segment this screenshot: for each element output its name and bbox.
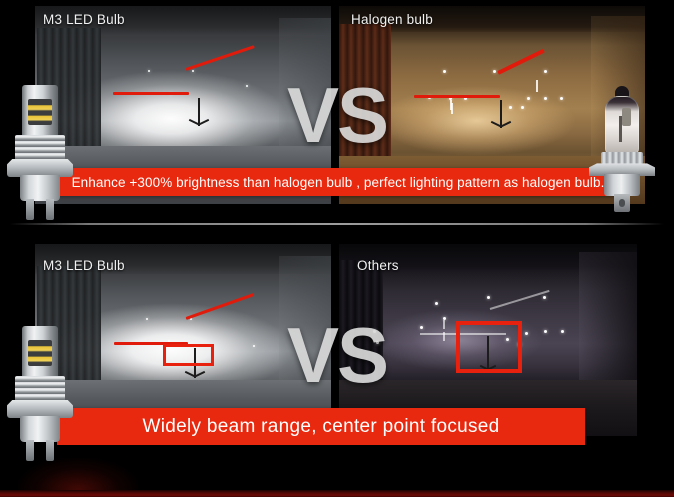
wall-reference-dot <box>544 330 547 333</box>
wall-reference-bar <box>443 320 445 329</box>
wall-reference-dot <box>543 296 546 299</box>
h4-halogen-bulb-icon <box>589 86 655 212</box>
h4-led-bulb-icon <box>3 326 77 461</box>
wall-reference-dot <box>420 326 423 329</box>
scene-right-wall <box>579 252 637 390</box>
beam-pattern-line-horizontal <box>414 95 500 98</box>
photo-label-halogen: Halogen bulb <box>351 12 433 27</box>
vs-badge-bottom: VS <box>287 316 387 394</box>
photo-label-m3-led: M3 LED Bulb <box>43 258 125 273</box>
wall-reference-dot <box>443 70 446 73</box>
focus-highlight-box-others <box>456 321 522 373</box>
wall-reference-dot <box>192 70 194 72</box>
wall-reference-dot <box>527 97 530 100</box>
wall-reference-dot <box>544 97 547 100</box>
bottom-accent-rule <box>0 490 674 497</box>
wall-reference-dot <box>435 302 438 305</box>
wall-reference-dot <box>544 70 547 73</box>
wall-reference-dot <box>525 332 528 335</box>
focus-highlight-box-m3-led <box>163 344 214 366</box>
beam-pattern-line-horizontal <box>113 92 189 95</box>
bottom-ambient-glow <box>18 458 138 490</box>
banner-beam-range-claim: Widely beam range, center point focused <box>57 408 585 445</box>
wall-reference-dot <box>561 330 564 333</box>
wall-reference-bar <box>536 80 538 92</box>
wall-reference-dot <box>509 106 512 109</box>
banner-brightness-claim: Enhance +300% brightness than halogen bu… <box>58 168 618 196</box>
photo-label-m3-led: M3 LED Bulb <box>43 12 125 27</box>
wall-reference-dot <box>146 318 148 320</box>
comparison-row-brightness: M3 LED Bulb Halogen bulb VS Enhance +300… <box>0 0 674 224</box>
wall-reference-dot <box>148 70 150 72</box>
light-stand-silhouette <box>488 100 514 128</box>
photo-label-others: Others <box>357 258 399 273</box>
wall-reference-dot <box>560 97 563 100</box>
row-divider <box>10 223 664 225</box>
wall-reference-bar <box>451 103 453 114</box>
wall-reference-dot <box>521 106 524 109</box>
h4-led-bulb-icon <box>3 85 77 220</box>
wall-reference-dot <box>246 85 248 87</box>
wall-reference-dot <box>487 296 490 299</box>
wall-reference-dot <box>493 70 496 73</box>
wall-reference-dot <box>253 345 255 347</box>
comparison-poster: M3 LED Bulb Halogen bulb VS Enhance +300… <box>0 0 674 497</box>
light-stand-silhouette <box>186 98 212 126</box>
vs-badge-top: VS <box>287 76 387 154</box>
